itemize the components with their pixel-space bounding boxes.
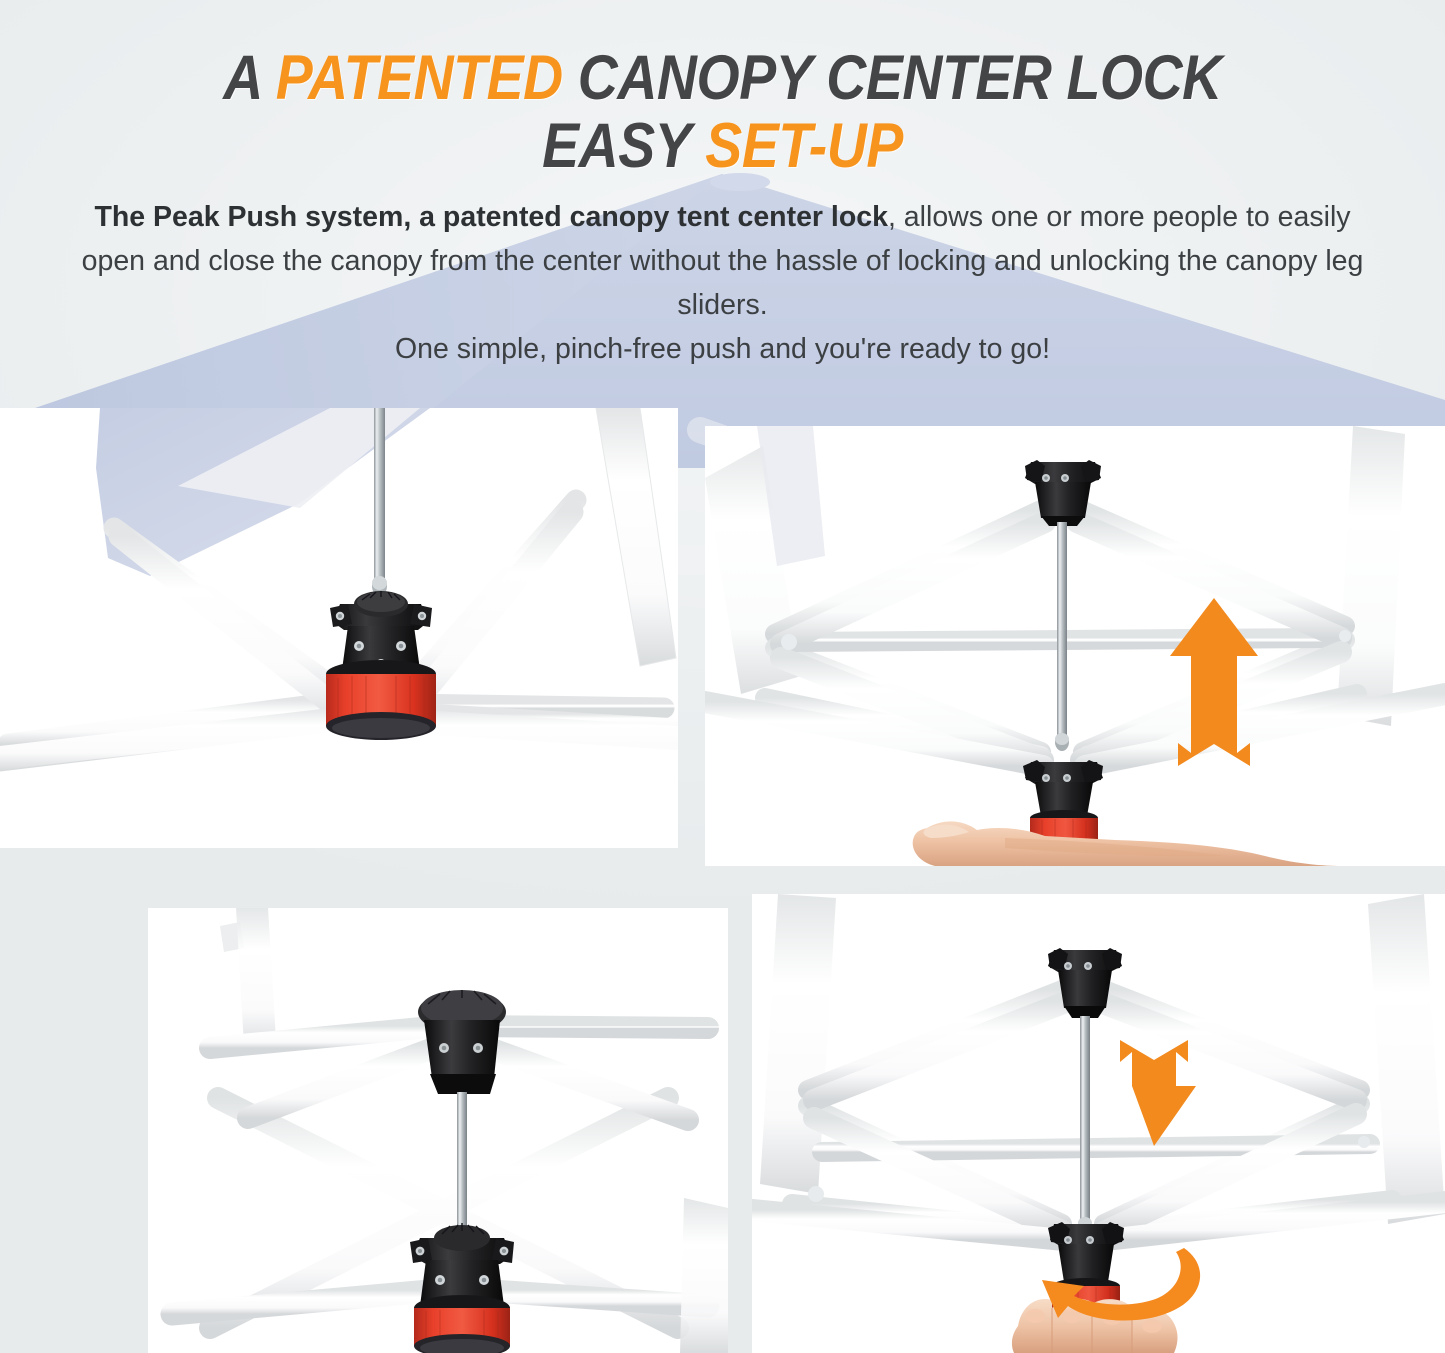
feature-panel-grid bbox=[0, 408, 1445, 1353]
headline-text-a: A bbox=[223, 43, 276, 113]
panel-bottom-right bbox=[752, 894, 1445, 1353]
body-line-4: One simple, pinch-free push and you're r… bbox=[395, 333, 1050, 365]
panel-bottom-left-illustration bbox=[148, 908, 728, 1353]
red-knob bbox=[326, 660, 436, 740]
headline-accent-setup: SET-UP bbox=[705, 111, 903, 181]
headline-text-b: CANOPY CENTER LOCK bbox=[563, 43, 1222, 113]
panel-top-left bbox=[0, 408, 678, 848]
headline-line-2: EASY SET-UP bbox=[87, 116, 1359, 178]
body-lead: The Peak Push system, a patented canopy … bbox=[94, 201, 888, 233]
product-feature-graphic: A PATENTED CANOPY CENTER LOCK EASY SET-U… bbox=[0, 0, 1445, 1353]
panel-top-right-illustration bbox=[705, 426, 1445, 866]
body-copy: The Peak Push system, a patented canopy … bbox=[70, 195, 1375, 371]
panel-top-right bbox=[705, 426, 1445, 866]
headline: A PATENTED CANOPY CENTER LOCK EASY SET-U… bbox=[0, 48, 1445, 177]
panel-bottom-right-illustration bbox=[752, 894, 1445, 1353]
headline-line-1: A PATENTED CANOPY CENTER LOCK bbox=[87, 48, 1359, 110]
headline-accent-patented: PATENTED bbox=[276, 43, 563, 113]
panel-bottom-left bbox=[148, 908, 728, 1353]
panel-top-left-illustration bbox=[0, 408, 678, 848]
red-knob bbox=[414, 1295, 510, 1353]
headline-text-c: EASY bbox=[542, 111, 705, 181]
